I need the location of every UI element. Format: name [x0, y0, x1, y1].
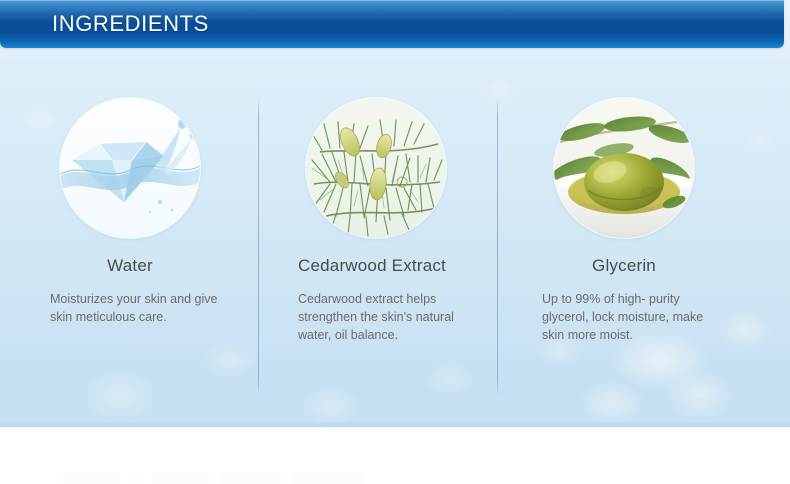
ingredient-image-wrap [60, 98, 200, 238]
glycerin-olive-in-oil-photo [554, 98, 694, 238]
ingredient-card-glycerin: Glycerin Up to 99% of high- purity glyce… [500, 98, 748, 344]
water-diamond-splash-photo [60, 98, 200, 238]
ingredient-name: Cedarwood Extract [252, 256, 500, 276]
ingredient-description: Up to 99% of high- purity glycerol, lock… [500, 290, 748, 344]
ingredient-image-wrap [306, 98, 446, 238]
ingredients-page: INGREDIENTS [0, 0, 790, 484]
ghost-block [58, 472, 120, 484]
ingredient-card-cedarwood: Cedarwood Extract Cedarwood extract help… [252, 98, 500, 344]
ingredient-description: Cedarwood extract helps strengthen the s… [252, 290, 500, 344]
ghost-block [220, 472, 282, 484]
cedarwood-pine-branch-photo [306, 98, 446, 238]
ingredient-card-water: Water Moisturizes your skin and give ski… [6, 98, 254, 326]
ingredient-columns: Water Moisturizes your skin and give ski… [0, 0, 790, 427]
ingredient-name: Water [6, 256, 254, 276]
ghost-block [292, 472, 364, 484]
ghost-block [130, 472, 142, 484]
ingredient-description: Moisturizes your skin and give skin meti… [6, 290, 254, 326]
next-section-partial [0, 427, 790, 484]
ingredient-name: Glycerin [500, 256, 748, 276]
ghost-block [152, 472, 210, 484]
ingredient-image-wrap [554, 98, 694, 238]
